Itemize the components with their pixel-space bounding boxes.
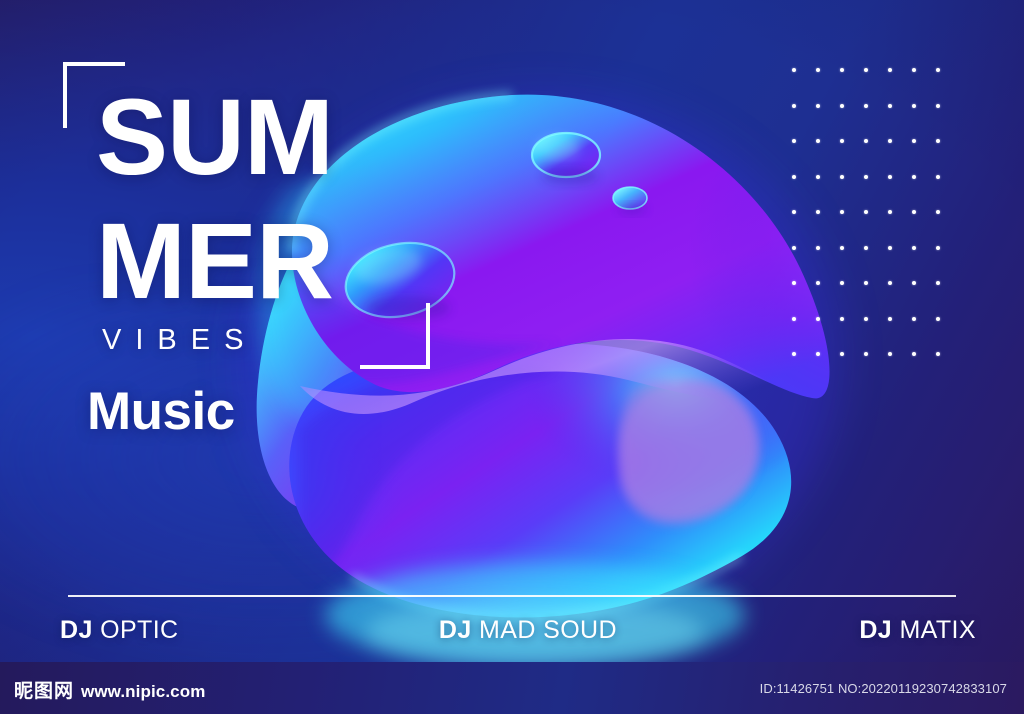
watermark: 昵图网 www.nipic.com bbox=[14, 676, 205, 703]
asset-id-text: ID:11426751 NO:20220119230742833107 bbox=[760, 681, 1007, 696]
dj-entry-center: DJ MAD SOUD bbox=[439, 616, 617, 645]
dj-name-center: MAD SOUD bbox=[479, 616, 617, 644]
dj-prefix-center: DJ bbox=[439, 616, 472, 644]
dj-prefix-right: DJ bbox=[859, 616, 892, 644]
dj-name-center-space bbox=[472, 616, 479, 644]
title-genre-music: Music bbox=[87, 381, 333, 442]
poster-canvas: SUM MER VIBES Music DJ OPTIC DJ MAD SOUD… bbox=[0, 0, 1024, 714]
dj-entry-right: DJ MATIX bbox=[859, 616, 976, 645]
footer-inner: 昵图网 www.nipic.com ID:11426751 NO:2022011… bbox=[0, 662, 1024, 714]
dj-name-left: OPTIC bbox=[100, 616, 178, 644]
lineup-separator-line bbox=[68, 595, 956, 597]
watermark-brand-cn: 昵图网 bbox=[14, 676, 74, 703]
dj-lineup-row: DJ OPTIC DJ MAD SOUD DJ MATIX bbox=[60, 612, 976, 648]
title-line-2: MER bbox=[96, 208, 333, 314]
footer-bar: 昵图网 www.nipic.com ID:11426751 NO:2022011… bbox=[0, 662, 1024, 714]
watermark-url[interactable]: www.nipic.com bbox=[81, 682, 205, 702]
title-block: SUM MER VIBES Music bbox=[96, 84, 333, 442]
title-subtitle-vibes: VIBES bbox=[102, 324, 333, 357]
dj-entry-left: DJ OPTIC bbox=[60, 616, 179, 645]
title-line-1: SUM bbox=[96, 84, 333, 190]
dj-name-right: MATIX bbox=[899, 616, 976, 644]
dj-prefix-left: DJ bbox=[60, 616, 93, 644]
dot-grid-decoration bbox=[792, 68, 952, 358]
